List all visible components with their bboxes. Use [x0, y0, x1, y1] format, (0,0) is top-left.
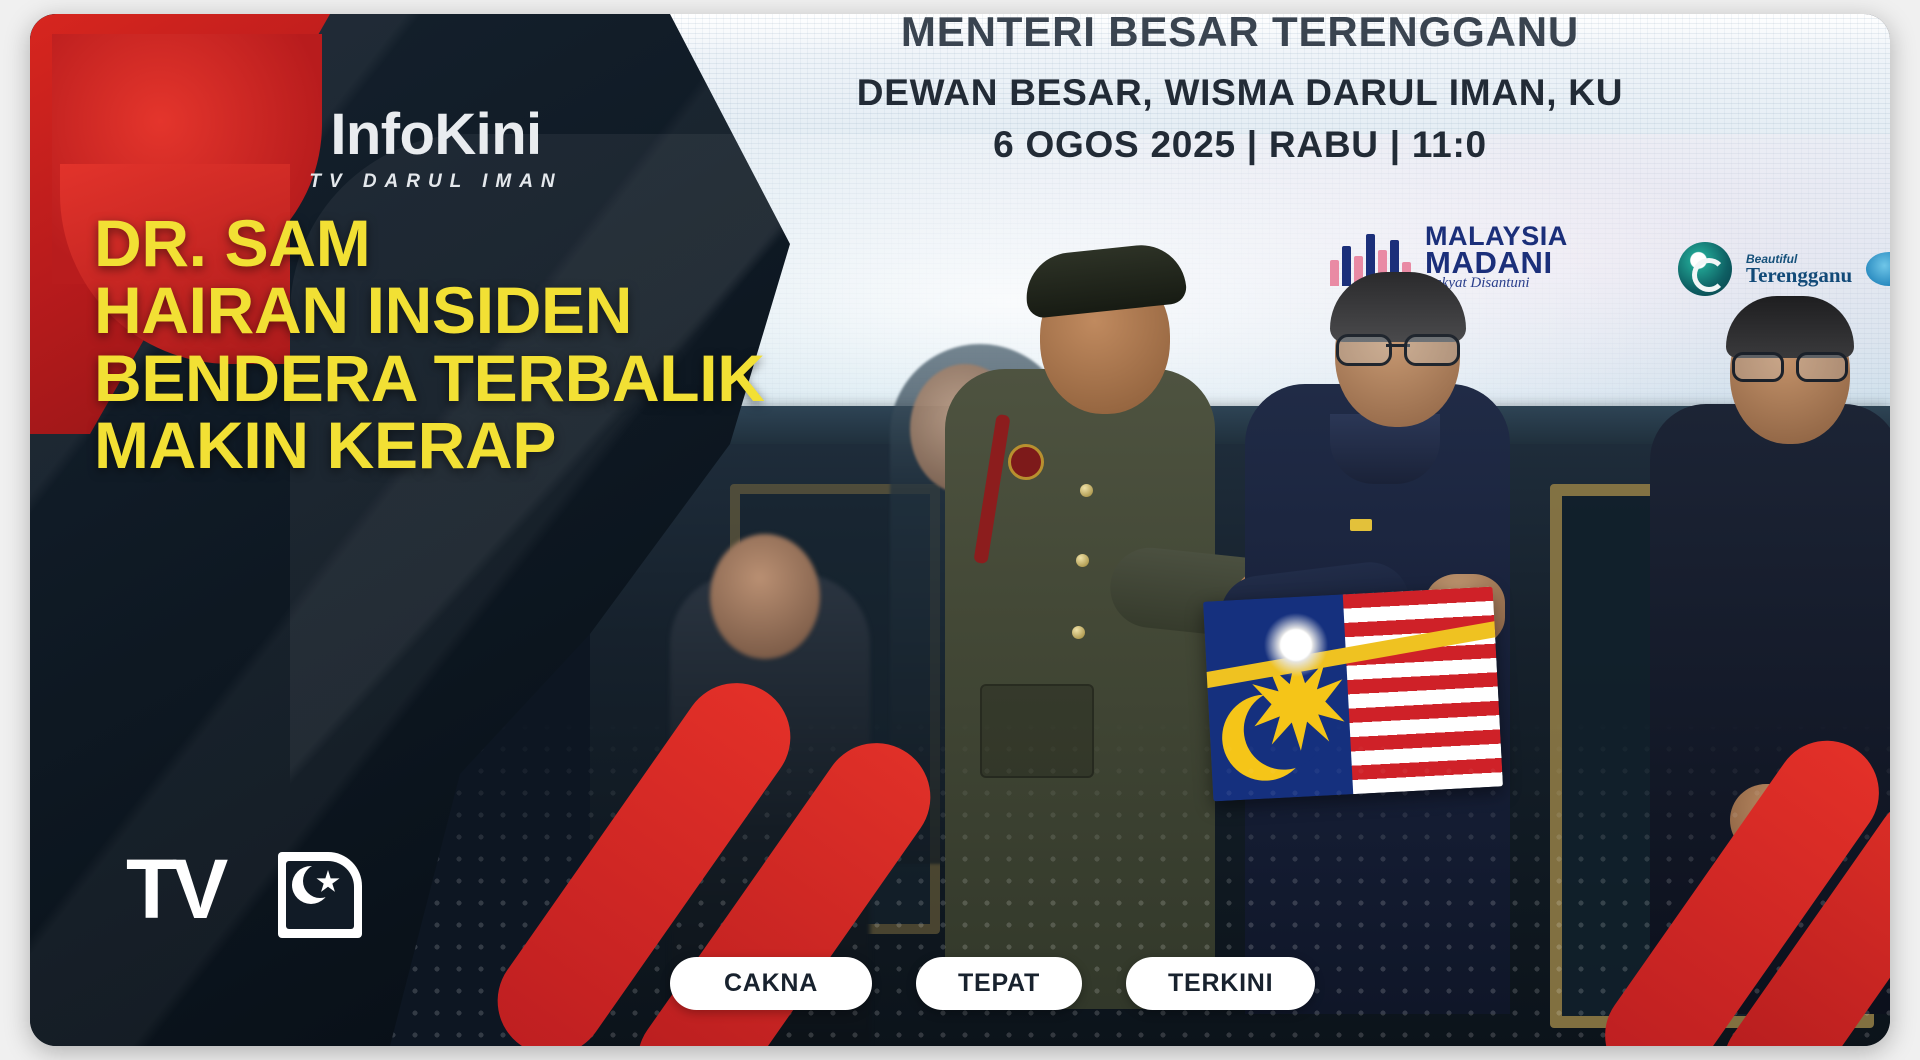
background-attendee-head	[710, 534, 820, 659]
headline-line-1: DR. SAM	[94, 210, 754, 277]
tvdi-logo-mark	[278, 852, 362, 938]
banner-line-1: MENTERI BESAR TERENGGANU	[590, 14, 1890, 56]
headline-block: DR. SAM HAIRAN INSIDEN BENDERA TERBALIK …	[94, 210, 754, 479]
brand-lockup: InfoKini TV DARUL IMAN	[226, 106, 646, 193]
officer-badge	[1008, 444, 1044, 480]
third-person-glasses-icon	[1732, 352, 1848, 376]
official-glasses-icon	[1336, 334, 1460, 360]
terengganu-name-text: Terengganu	[1746, 265, 1852, 286]
official-lapel-pin	[1350, 519, 1372, 531]
officer-button	[1072, 626, 1085, 639]
pill-tepat[interactable]: TEPAT	[916, 957, 1082, 1010]
officer-pocket	[980, 684, 1094, 778]
pill-cakna[interactable]: CAKNA	[670, 957, 872, 1010]
brand-subtitle: TV DARUL IMAN	[226, 171, 646, 193]
tvdi-logo: TV	[126, 852, 356, 944]
officer-button	[1080, 484, 1093, 497]
flag-bow	[1258, 610, 1334, 680]
brand-name: InfoKini	[226, 106, 646, 164]
banner-line-2: DEWAN BESAR, WISMA DARUL IMAN, KU	[590, 72, 1890, 114]
banner-line-3: 6 OGOS 2025 | RABU | 11:0	[590, 124, 1890, 166]
headline-line-3: BENDERA TERBALIK	[94, 345, 754, 412]
tvdi-logo-text: TV	[126, 856, 223, 923]
terengganu-seal-icon	[1678, 242, 1732, 296]
pill-terkini[interactable]: TERKINI	[1126, 957, 1315, 1010]
terengganu-tourism-icon	[1866, 252, 1890, 286]
tagline-pills: CAKNA TEPAT TERKINI	[670, 957, 1315, 1010]
news-card: MENTERI BESAR TERENGGANU DEWAN BESAR, WI…	[30, 14, 1890, 1046]
madani-line-2: MADANI	[1425, 249, 1568, 278]
malaysia-flag	[1203, 587, 1503, 802]
screenshot-root: MENTERI BESAR TERENGGANU DEWAN BESAR, WI…	[0, 0, 1920, 1060]
terengganu-logos: Beautiful Terengganu	[1678, 242, 1890, 296]
headline-line-2: HAIRAN INSIDEN	[94, 277, 754, 344]
headline-line-4: MAKIN KERAP	[94, 412, 754, 479]
officer-button	[1076, 554, 1089, 567]
